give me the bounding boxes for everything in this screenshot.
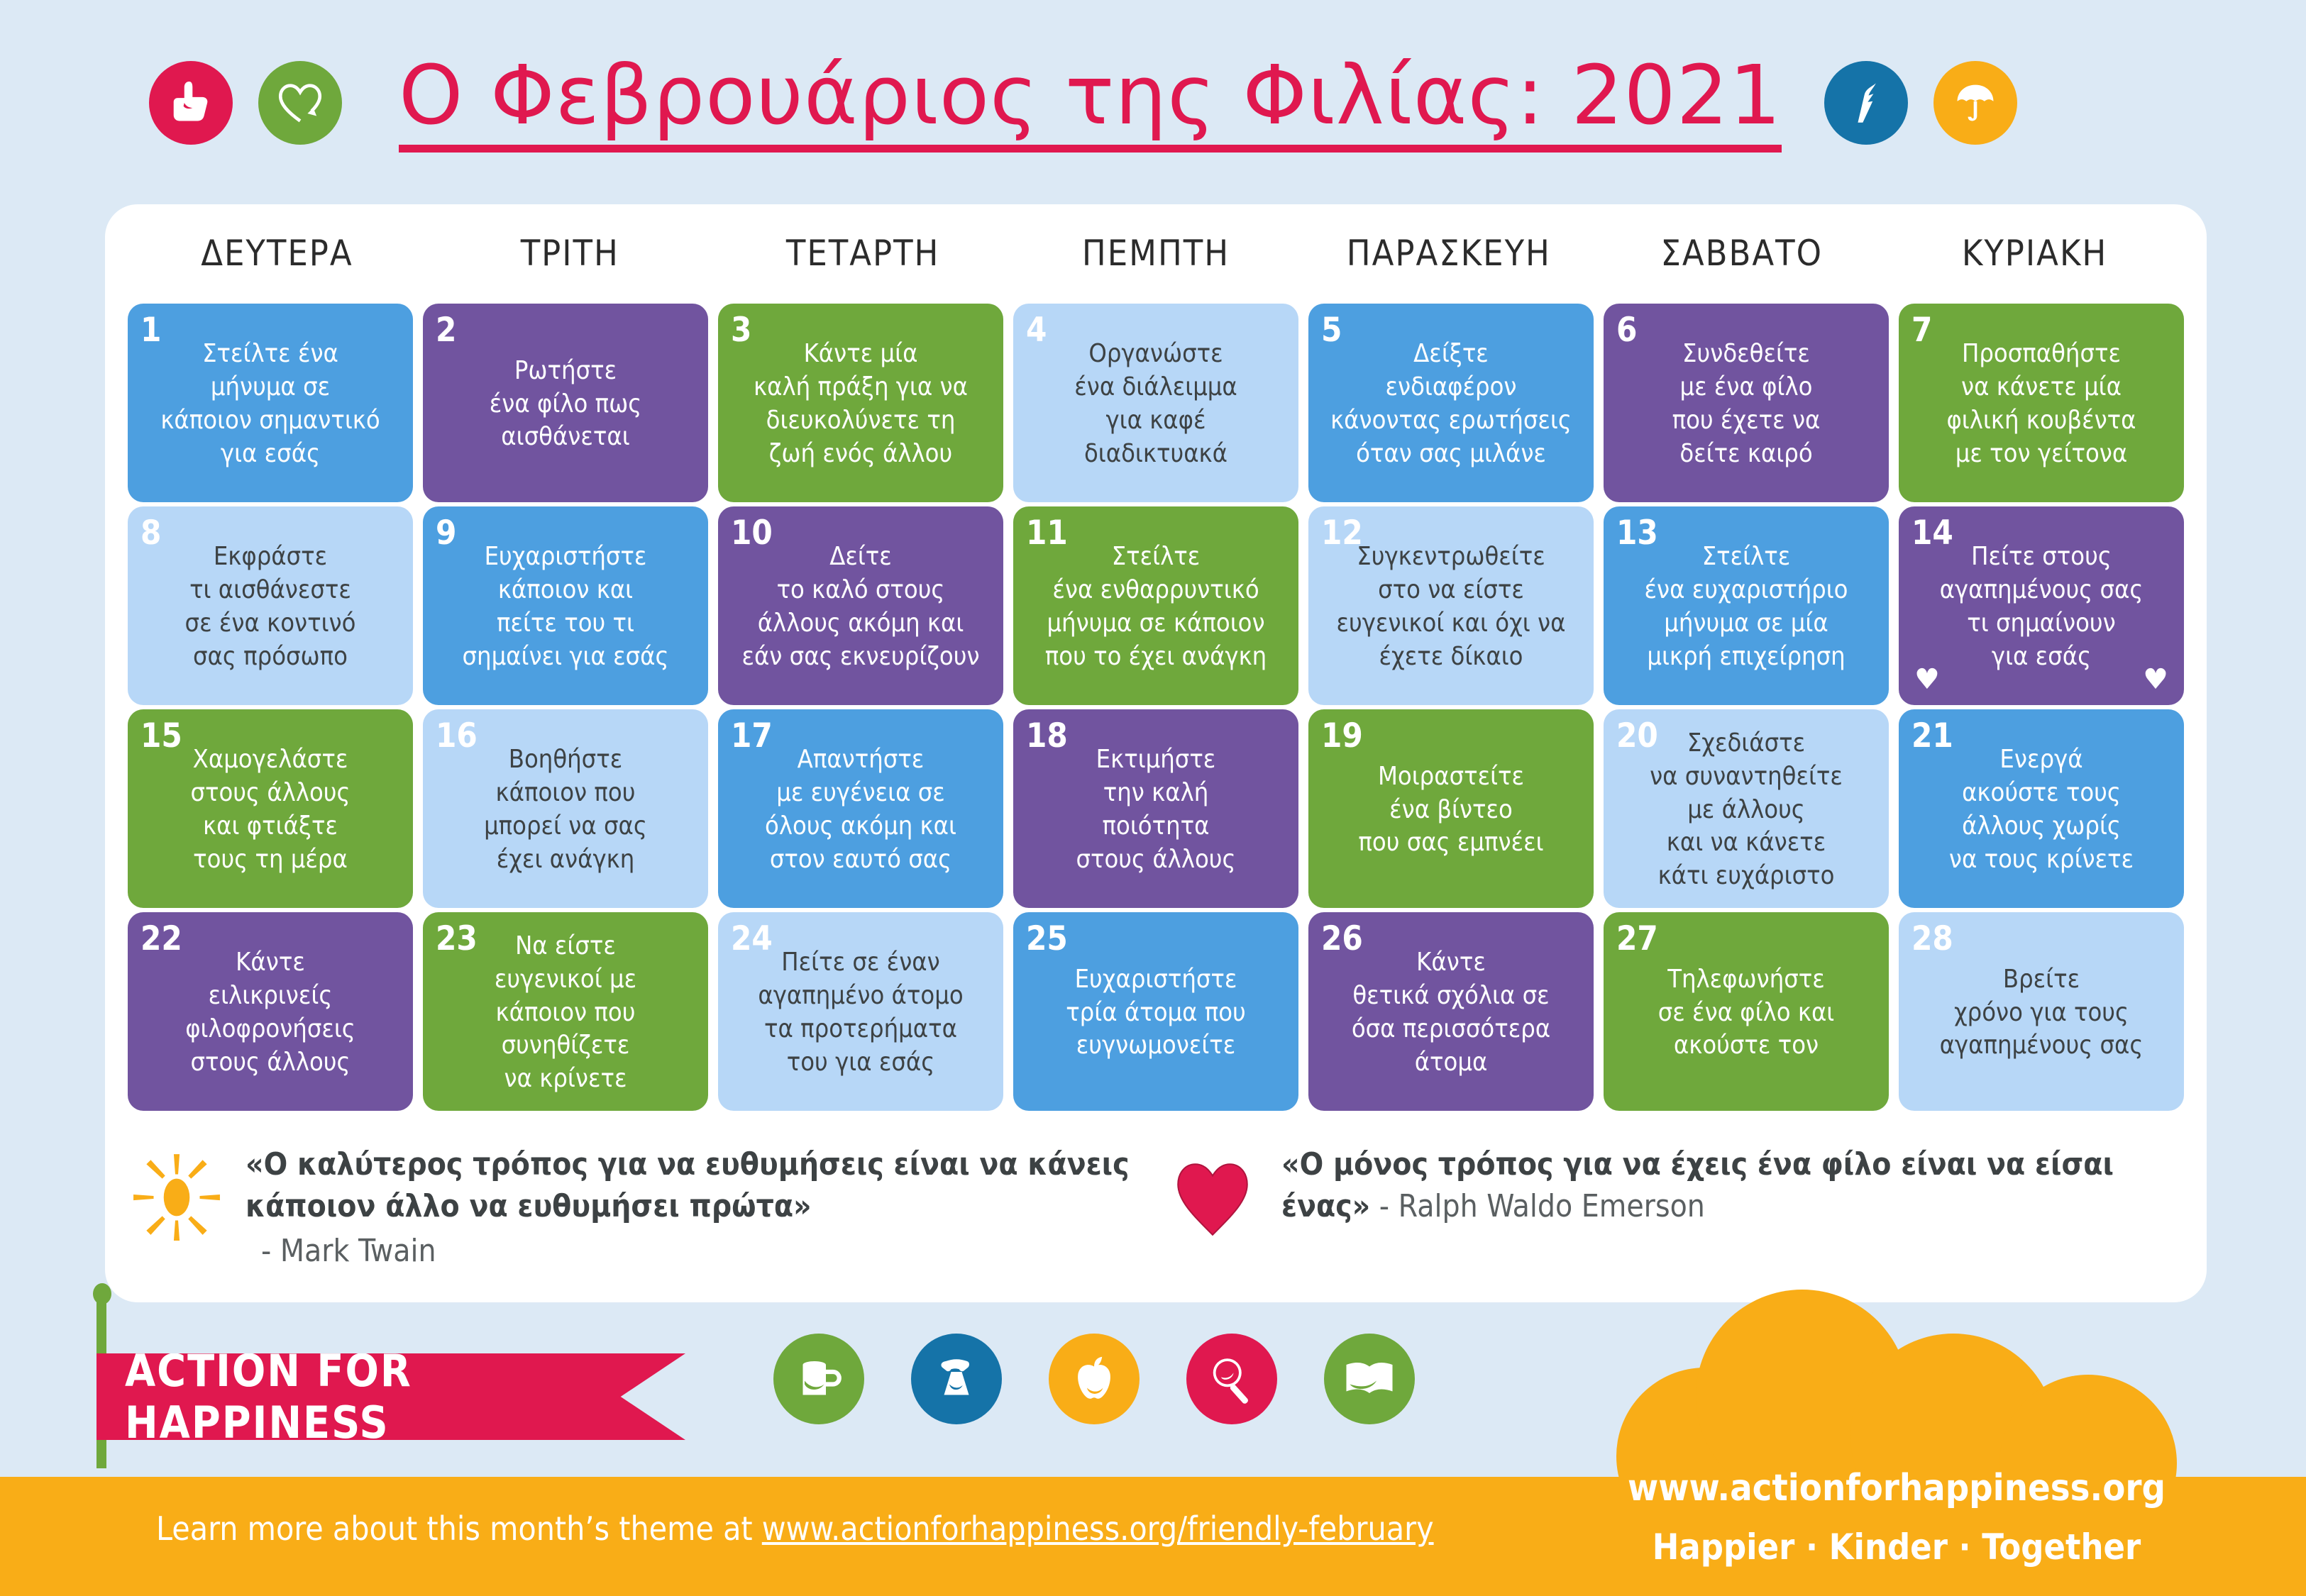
day-action-text: Βρείτε χρόνο για τους αγαπημένους σας [1910,963,2173,1063]
day-action-text: Κάντε θετικά σχόλια σε όσα περισσότερα ά… [1320,946,1582,1079]
day-number: 5 [1321,314,1342,347]
day-number: 15 [140,719,182,753]
quotes-row: «Ο καλύτερος τρόπος για να ευθυμήσεις εί… [131,1144,2181,1273]
day-name-tuesday: ΤΡΙΤΗ [424,233,717,274]
telephone-icon [911,1334,1002,1424]
learn-more-text: Learn more about this month’s theme at w… [156,1509,1434,1548]
quote-attribution: - Ralph Waldo Emerson [1370,1188,1705,1224]
day-number: 27 [1616,922,1658,955]
day-action-text: Στείλτε ένα ενθαρρυντικό μήνυμα σε κάποι… [1025,541,1287,673]
day-action-text: Κάντε ειλικρινείς φιλοφρονήσεις στους άλ… [139,946,402,1079]
tagline: Happier · Kinder · Together [1616,1526,2177,1568]
calendar-day-9[interactable]: 9Ευχαριστήστε κάποιον και πείτε του τι σ… [423,506,708,705]
road-path-icon [1824,61,1908,145]
apple-icon [1049,1334,1140,1424]
quote-emerson: «Ο μόνος τρόπος για να έχεις ένα φίλο εί… [1166,1144,2160,1243]
day-name-row: ΔΕΥΤΕΡΑ ΤΡΙΤΗ ΤΕΤΑΡΤΗ ΠΕΜΠΤΗ ΠΑΡΑΣΚΕΥΗ Σ… [131,233,2181,274]
day-action-text: Τηλεφωνήστε σε ένα φίλο και ακούστε τον [1615,963,1877,1063]
calendar-day-12[interactable]: 12Συγκεντρωθείτε στο να είστε ευγενικοί … [1308,506,1594,705]
day-number: 13 [1616,516,1658,550]
day-number: 14 [1911,516,1953,550]
calendar-grid: 1Στείλτε ένα μήνυμα σε κάποιον σημαντικό… [128,304,2184,1111]
day-action-text: Συνδεθείτε με ένα φίλο που έχετε να δείτ… [1615,338,1877,470]
day-number: 9 [436,516,456,550]
day-number: 25 [1026,922,1068,955]
day-action-text: Δείξτε ενδιαφέρον κάνοντας ερωτήσεις ότα… [1320,338,1582,470]
calendar-day-27[interactable]: 27Τηλεφωνήστε σε ένα φίλο και ακούστε το… [1604,912,1889,1111]
calendar-card: ΔΕΥΤΕΡΑ ΤΡΙΤΗ ΤΕΤΑΡΤΗ ΠΕΜΠΤΗ ΠΑΡΑΣΚΕΥΗ Σ… [105,204,2207,1302]
heart-arrow-icon [258,61,342,145]
day-name-saturday: ΣΑΒΒΑΤΟ [1595,233,1888,274]
day-action-text: Ευχαριστήστε τρία άτομα που ευγνωμονείτε [1025,963,1287,1063]
calendar-day-13[interactable]: 13Στείλτε ένα ευχαριστήριο μήνυμα σε μία… [1604,506,1889,705]
day-number: 18 [1026,719,1068,753]
day-number: 17 [731,719,773,753]
header-icons-right [1824,61,2017,145]
day-action-text: Πείτε σε έναν αγαπημένο άτομο τα προτερή… [729,946,992,1079]
magnifier-icon [1186,1334,1277,1424]
mug-icon [773,1334,864,1424]
sun-icon [131,1144,237,1243]
calendar-day-18[interactable]: 18Εκτιμήστε την καλή ποιότητα στους άλλο… [1013,709,1298,908]
day-action-text: Δείτε το καλό στους άλλους ακόμη και εάν… [729,541,992,673]
bottom-icon-row [773,1334,1415,1424]
open-book-icon [1324,1334,1415,1424]
day-name-wednesday: ΤΕΤΑΡΤΗ [717,233,1010,274]
calendar-day-28[interactable]: 28Βρείτε χρόνο για τους αγαπημένους σας [1899,912,2184,1111]
calendar-day-3[interactable]: 3Κάντε μία καλή πράξη για να διευκολύνετ… [718,304,1003,502]
heart-icon-right: ♥ [2143,665,2168,694]
calendar-day-23[interactable]: 23Να είστε ευγενικοί με κάποιον που συνη… [423,912,708,1111]
calendar-day-11[interactable]: 11Στείλτε ένα ενθαρρυντικό μήνυμα σε κάπ… [1013,506,1298,705]
day-action-text: Συγκεντρωθείτε στο να είστε ευγενικοί κα… [1320,541,1582,673]
friendly-february-link[interactable]: www.actionforhappiness.org/friendly-febr… [762,1509,1434,1548]
day-action-text: Οργανώστε ένα διάλειμμα για καφέ διαδικτ… [1025,338,1287,470]
calendar-day-10[interactable]: 10Δείτε το καλό στους άλλους ακόμη και ε… [718,506,1003,705]
action-for-happiness-banner: ACTION FOR HAPPINESS [96,1353,685,1440]
day-action-text: Ρωτήστε ένα φίλο πως αισθάνεται [434,355,697,454]
site-url[interactable]: www.actionforhappiness.org [1616,1467,2177,1509]
calendar-day-2[interactable]: 2Ρωτήστε ένα φίλο πως αισθάνεται [423,304,708,502]
footer-brand-block: www.actionforhappiness.org Happier · Kin… [1616,1467,2177,1568]
day-action-text: Χαμογελάστε στους άλλους και φτιάξτε του… [139,743,402,876]
umbrella-icon [1933,61,2017,145]
calendar-day-17[interactable]: 17Απαντήστε με ευγένεια σε όλους ακόμη κ… [718,709,1003,908]
heart-icon [1166,1144,1273,1243]
calendar-day-15[interactable]: 15Χαμογελάστε στους άλλους και φτιάξτε τ… [128,709,413,908]
day-action-text: Βοηθήστε κάποιον που μπορεί να σας έχει … [434,743,697,876]
day-number: 28 [1911,922,1953,955]
calendar-day-14[interactable]: 14Πείτε στους αγαπημένους σας τι σημαίνο… [1899,506,2184,705]
calendar-day-8[interactable]: 8Εκφράστε τι αισθάνεστε σε ένα κοντινό σ… [128,506,413,705]
banner-label: ACTION FOR HAPPINESS [96,1345,685,1448]
day-action-text: Στείλτε ένα μήνυμα σε κάποιον σημαντικό … [139,338,402,470]
quote-text-block: «Ο καλύτερος τρόπος για να ευθυμήσεις εί… [237,1144,1166,1273]
day-action-text: Εκτιμήστε την καλή ποιότητα στους άλλους [1025,743,1287,876]
calendar-day-26[interactable]: 26Κάντε θετικά σχόλια σε όσα περισσότερα… [1308,912,1594,1111]
day-number: 2 [436,314,456,347]
thumbs-up-icon [149,61,233,145]
day-action-text: Ευχαριστήστε κάποιον και πείτε του τι ση… [434,541,697,673]
calendar-day-21[interactable]: 21Ενεργά ακούστε τους άλλους χωρίς να το… [1899,709,2184,908]
day-number: 21 [1911,719,1953,753]
calendar-day-1[interactable]: 1Στείλτε ένα μήνυμα σε κάποιον σημαντικό… [128,304,413,502]
day-number: 4 [1026,314,1047,347]
day-number: 6 [1616,314,1637,347]
learn-more-prefix: Learn more about this month’s theme at [156,1509,762,1548]
day-number: 23 [436,922,478,955]
calendar-day-19[interactable]: 19Μοιραστείτε ένα βίντεο που σας εμπνέει [1308,709,1594,908]
calendar-day-24[interactable]: 24Πείτε σε έναν αγαπημένο άτομο τα προτε… [718,912,1003,1111]
day-name-thursday: ΠΕΜΠΤΗ [1010,233,1303,274]
day-action-text: Εκφράστε τι αισθάνεστε σε ένα κοντινό σα… [139,541,402,673]
day-number: 24 [731,922,773,955]
quote-mark-twain: «Ο καλύτερος τρόπος για να ευθυμήσεις εί… [131,1144,1166,1273]
cloud-shape [1616,1290,2177,1475]
day-action-text: Κάντε μία καλή πράξη για να διευκολύνετε… [729,338,992,470]
day-action-text: Στείλτε ένα ευχαριστήριο μήνυμα σε μία μ… [1615,541,1877,673]
day-number: 10 [731,516,773,550]
day-name-friday: ΠΑΡΑΣΚΕΥΗ [1302,233,1595,274]
day-number: 16 [436,719,478,753]
day-number: 3 [731,314,751,347]
day-action-text: Μοιραστείτε ένα βίντεο που σας εμπνέει [1320,760,1582,860]
day-name-sunday: ΚΥΡΙΑΚΗ [1888,233,2181,274]
day-number: 26 [1321,922,1363,955]
quote-attribution: - Mark Twain [246,1231,1166,1273]
day-number: 22 [140,922,182,955]
calendar-day-25[interactable]: 25Ευχαριστήστε τρία άτομα που ευγνωμονεί… [1013,912,1298,1111]
page-title: Ο Φεβρουάριος της Φιλίας: 2021 [399,53,1782,153]
day-number: 12 [1321,516,1363,550]
day-number: 11 [1026,516,1068,550]
day-number: 19 [1321,719,1363,753]
day-number: 1 [140,314,161,347]
day-action-text: Προσπαθήστε να κάνετε μία φιλική κουβέντ… [1910,338,2173,470]
page-header: Ο Φεβρουάριος της Φιλίας: 2021 [0,0,2306,206]
day-name-monday: ΔΕΥΤΕΡΑ [131,233,424,274]
calendar-day-7[interactable]: 7Προσπαθήστε να κάνετε μία φιλική κουβέν… [1899,304,2184,502]
day-number: 8 [140,516,161,550]
day-action-text: Απαντήστε με ευγένεια σε όλους ακόμη και… [729,743,992,876]
calendar-day-20[interactable]: 20Σχεδιάστε να συναντηθείτε με άλλους κα… [1604,709,1889,908]
quote-text-block: «Ο μόνος τρόπος για να έχεις ένα φίλο εί… [1273,1144,2160,1228]
calendar-day-6[interactable]: 6Συνδεθείτε με ένα φίλο που έχετε να δεί… [1604,304,1889,502]
calendar-day-4[interactable]: 4Οργανώστε ένα διάλειμμα για καφέ διαδικ… [1013,304,1298,502]
calendar-day-5[interactable]: 5Δείξτε ενδιαφέρον κάνοντας ερωτήσεις ότ… [1308,304,1594,502]
calendar-day-22[interactable]: 22Κάντε ειλικρινείς φιλοφρονήσεις στους … [128,912,413,1111]
calendar-day-16[interactable]: 16Βοηθήστε κάποιον που μπορεί να σας έχε… [423,709,708,908]
day-action-text: Πείτε στους αγαπημένους σας τι σημαίνουν… [1910,541,2173,673]
quote-text: «Ο καλύτερος τρόπος για να ευθυμήσεις εί… [246,1146,1130,1224]
heart-icon-left: ♥ [1914,665,1940,694]
day-action-text: Ενεργά ακούστε τους άλλους χωρίς να τους… [1910,743,2173,876]
day-number: 7 [1911,314,1932,347]
header-icons-left [149,61,342,145]
day-number: 20 [1616,719,1658,753]
title-wrapper: Ο Φεβρουάριος της Φιλίας: 2021 [399,53,1782,153]
